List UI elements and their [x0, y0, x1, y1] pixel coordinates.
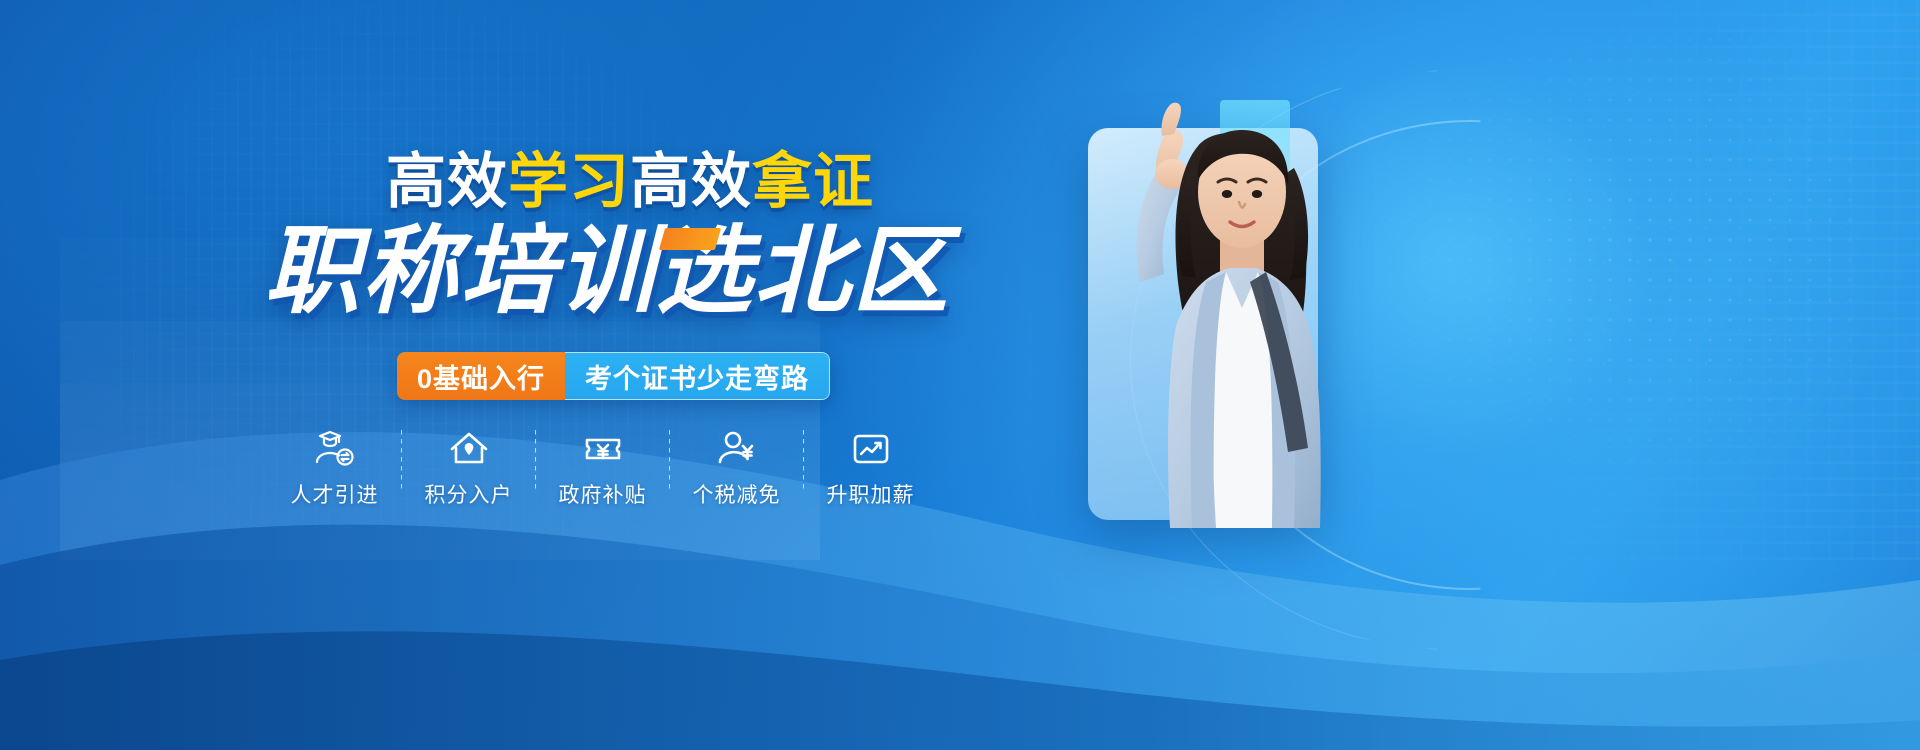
model-photo [1020, 76, 1400, 528]
feature-item-tax[interactable]: 个税减免 [670, 428, 803, 509]
tagline-badge: 0基础入行 [397, 352, 565, 400]
tagline-text: 考个证书少走弯路 [565, 352, 830, 400]
page-title-text: 职称培训选北区 [264, 218, 950, 325]
headline-part-3: 高效 [630, 148, 752, 215]
wave-decoration [0, 330, 1920, 750]
feature-label: 升职加薪 [827, 479, 915, 509]
house-location-icon [448, 428, 490, 470]
tagline-pill: 0基础入行 考个证书少走弯路 [397, 352, 830, 400]
headline-part-1: 高效 [386, 148, 508, 215]
feature-item-promotion[interactable]: 升职加薪 [804, 428, 937, 509]
headline-secondary: 高效学习高效拿证 [386, 152, 874, 212]
promo-banner: 高效学习高效拿证 职称培训选北区 0基础入行 考个证书少走弯路 [0, 0, 1920, 750]
headline-part-2-highlight: 学习 [508, 148, 630, 215]
feature-item-talent[interactable]: 人才引进 [268, 428, 401, 509]
feature-label: 个税减免 [693, 479, 781, 509]
feature-label: 政府补贴 [559, 479, 647, 509]
orange-accent-stroke [659, 228, 721, 250]
graduate-talent-icon [314, 428, 356, 470]
coupon-yuan-icon [582, 428, 624, 470]
headline-part-4-highlight: 拿证 [752, 148, 874, 215]
feature-item-subsidy[interactable]: 政府补贴 [536, 428, 669, 509]
feature-label: 人才引进 [291, 479, 379, 509]
feature-label: 积分入户 [425, 479, 513, 509]
feature-item-residency[interactable]: 积分入户 [402, 428, 535, 509]
page-title: 职称培训选北区 [264, 224, 950, 320]
feature-list: 人才引进 积分入户 [268, 428, 937, 509]
person-yuan-icon [716, 428, 758, 470]
growth-chart-icon [850, 428, 892, 470]
